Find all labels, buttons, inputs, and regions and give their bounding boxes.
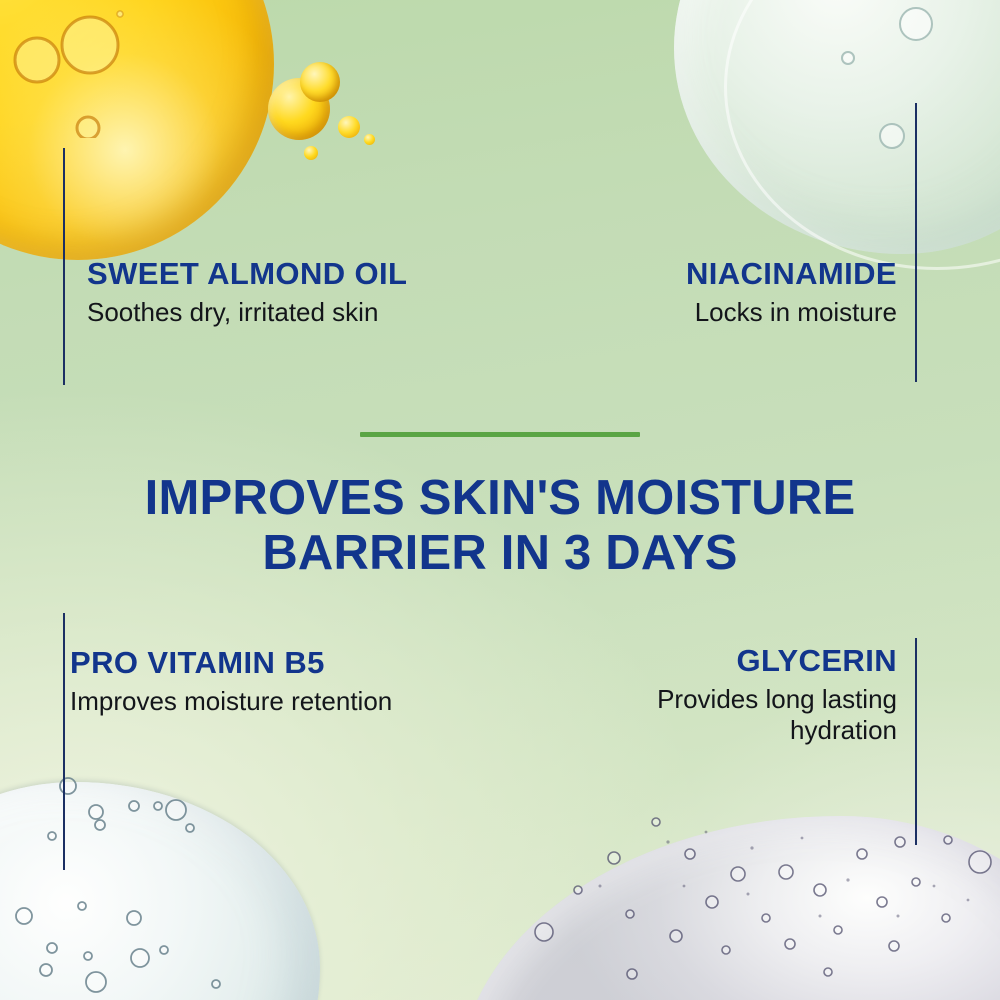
page-headline: IMPROVES SKIN'S MOISTUREBARRIER IN 3 DAY… [0,471,1000,581]
ingredient-benefit-sweet-almond-oil: Soothes dry, irritated skin [87,297,407,329]
pale-gel-blob-image [674,0,1000,254]
oil-droplet-bubbles [0,0,182,138]
oil-satellite-droplet-large [268,78,330,140]
headline-line-2: BARRIER IN 3 DAYS [262,526,737,580]
connector-line-top-left [63,148,65,385]
ingredient-benefit-pro-vitamin-b5: Improves moisture retention [70,686,392,718]
infographic-canvas: SWEET ALMOND OIL Soothes dry, irritated … [0,0,1000,1000]
oil-satellite-droplet-medium [300,62,340,102]
ingredient-sweet-almond-oil: SWEET ALMOND OIL Soothes dry, irritated … [87,258,407,328]
pale-gel-bubbles [720,0,1000,260]
ingredient-benefit-niacinamide: Locks in moisture [686,297,897,329]
headline-group: IMPROVES SKIN'S MOISTUREBARRIER IN 3 DAY… [0,432,1000,581]
headline-line-1: IMPROVES SKIN'S MOISTURE [145,471,856,525]
oil-satellite-droplet-mini [304,146,318,160]
pale-gel-blob-rim [724,0,1000,270]
ingredient-name-glycerin: GLYCERIN [645,645,897,678]
ingredient-name-niacinamide: NIACINAMIDE [686,258,897,291]
oil-satellite-droplet-tiny [364,134,375,145]
ingredient-niacinamide: NIACINAMIDE Locks in moisture [686,258,897,328]
ingredient-name-pro-vitamin-b5: PRO VITAMIN B5 [70,647,392,680]
clear-gel-blob-image [0,782,320,1000]
ingredient-benefit-glycerin: Provides long lasting hydration [645,684,897,747]
connector-line-top-right [915,103,917,382]
clear-gel-bubbles [0,770,330,1000]
yellow-oil-droplet-image [0,0,274,260]
ingredient-name-sweet-almond-oil: SWEET ALMOND OIL [87,258,407,291]
lavender-gel-bubbles [480,790,1000,1000]
connector-line-bottom-left [63,613,65,870]
headline-divider [360,432,640,437]
ingredient-pro-vitamin-b5: PRO VITAMIN B5 Improves moisture retenti… [70,647,392,717]
connector-line-bottom-right [915,638,917,845]
lavender-gel-blob-image [458,816,1000,1000]
ingredient-glycerin: GLYCERIN Provides long lasting hydration [645,645,897,747]
oil-satellite-droplet-small [338,116,360,138]
